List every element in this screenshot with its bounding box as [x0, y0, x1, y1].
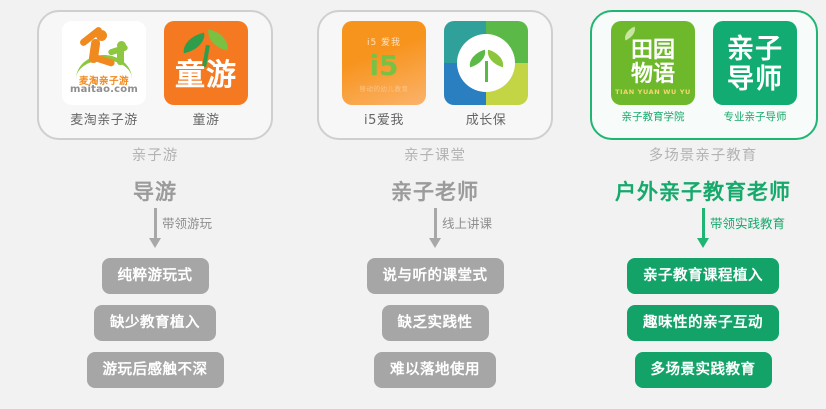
- card-caption: 多场景亲子教育: [580, 144, 826, 165]
- pill-item[interactable]: 缺乏实践性: [382, 305, 489, 341]
- tongyou-logo: 童游: [164, 21, 248, 105]
- brand-line-1: 田园: [611, 39, 695, 63]
- arrow-head-icon: [697, 238, 709, 248]
- flow-arrow: 带领实践教育: [580, 208, 826, 252]
- pill-list: 说与听的课堂式 缺乏实践性 难以落地使用: [300, 258, 570, 388]
- pill-item[interactable]: 难以落地使用: [374, 352, 496, 388]
- i5-logo: i5 爱我 i5 移动的幼儿教育: [342, 21, 426, 105]
- column-parent-child-travel: 麦淘亲子游 maitao.com 麦淘亲子游 童游 童游 亲子游 导: [20, 0, 290, 409]
- maitao-logo: 麦淘亲子游 maitao.com: [62, 21, 146, 105]
- logo-slot-tongyou[interactable]: 童游 童游: [164, 21, 248, 128]
- brand-pinyin: TIAN YUAN WU YU: [611, 88, 695, 96]
- i5-brand-bottom: 移动的幼儿教育: [342, 83, 426, 93]
- pill-item[interactable]: 说与听的课堂式: [367, 258, 504, 294]
- tianyuanwuyu-logo: 田园 物语 TIAN YUAN WU YU: [611, 21, 695, 105]
- leaf-left-icon: [181, 33, 208, 54]
- chengzhangbao-logo: [444, 21, 528, 105]
- flow-arrow: 带领游玩: [20, 208, 290, 252]
- logo-row: 麦淘亲子游 maitao.com 麦淘亲子游 童游 童游: [39, 21, 271, 128]
- pill-item[interactable]: 亲子教育课程植入: [627, 258, 779, 294]
- flow-arrow: 线上讲课: [300, 208, 570, 252]
- logo-card: i5 爱我 i5 移动的幼儿教育 i5爱我: [317, 10, 553, 140]
- logo-card-highlighted: 田园 物语 TIAN YUAN WU YU 亲子教育学院 亲子 导师 专业亲子导…: [590, 10, 818, 140]
- column-multi-scene-education: 田园 物语 TIAN YUAN WU YU 亲子教育学院 亲子 导师 专业亲子导…: [580, 0, 826, 409]
- arrow-line: [702, 208, 705, 240]
- brand-line-2: 物语: [611, 63, 695, 87]
- maitao-brand-en: maitao.com: [62, 84, 146, 95]
- logo-card: 麦淘亲子游 maitao.com 麦淘亲子游 童游 童游: [37, 10, 273, 140]
- logo-caption: 成长保: [444, 109, 528, 128]
- pill-list: 亲子教育课程植入 趣味性的亲子互动 多场景实践教育: [580, 258, 826, 388]
- arrow-label: 带领实践教育: [710, 213, 785, 232]
- logo-row: i5 爱我 i5 移动的幼儿教育 i5爱我: [319, 21, 551, 128]
- sprout-stem-shape: [485, 61, 488, 82]
- logo-caption: 麦淘亲子游: [62, 109, 146, 128]
- i5-brand-top: i5 爱我: [342, 35, 426, 48]
- role-title: 亲子老师: [300, 176, 570, 206]
- pill-item[interactable]: 纯粹游玩式: [102, 258, 209, 294]
- card-caption: 亲子游: [20, 144, 290, 165]
- arrow-head-icon: [429, 238, 441, 248]
- role-title: 户外亲子教育老师: [580, 176, 826, 206]
- arrow-label: 线上讲课: [442, 213, 492, 232]
- child-body-shape: [117, 49, 124, 65]
- arrow-line: [154, 208, 157, 240]
- logo-caption: 亲子教育学院: [611, 109, 695, 124]
- arrow-head-icon: [149, 238, 161, 248]
- pill-item[interactable]: 游玩后感触不深: [87, 352, 224, 388]
- pill-item[interactable]: 多场景实践教育: [635, 352, 772, 388]
- logo-slot-qinzidaoshi[interactable]: 亲子 导师 专业亲子导师: [713, 21, 797, 124]
- arrow-line: [434, 208, 437, 240]
- logo-caption: i5爱我: [342, 109, 426, 128]
- tongyou-brand-cn: 童游: [164, 59, 248, 93]
- column-parent-child-classroom: i5 爱我 i5 移动的幼儿教育 i5爱我: [300, 0, 570, 409]
- logo-row: 田园 物语 TIAN YUAN WU YU 亲子教育学院 亲子 导师 专业亲子导…: [592, 21, 816, 124]
- brand-line-2: 导师: [713, 65, 797, 95]
- pill-item[interactable]: 趣味性的亲子互动: [627, 305, 779, 341]
- brand-line-1: 亲子: [713, 35, 797, 65]
- arrow-label: 带领游玩: [162, 213, 212, 232]
- pill-item[interactable]: 缺少教育植入: [94, 305, 216, 341]
- logo-caption: 专业亲子导师: [713, 109, 797, 124]
- i5-brand-big: i5: [342, 51, 426, 81]
- logo-caption: 童游: [164, 109, 248, 128]
- pill-list: 纯粹游玩式 缺少教育植入 游玩后感触不深: [20, 258, 290, 388]
- comparison-diagram: 麦淘亲子游 maitao.com 麦淘亲子游 童游 童游 亲子游 导: [0, 0, 826, 409]
- role-title: 导游: [20, 176, 290, 206]
- logo-slot-i5aiwo[interactable]: i5 爱我 i5 移动的幼儿教育 i5爱我: [342, 21, 426, 128]
- logo-slot-maitao[interactable]: 麦淘亲子游 maitao.com 麦淘亲子游: [62, 21, 146, 128]
- logo-slot-tianyuanwuyu[interactable]: 田园 物语 TIAN YUAN WU YU 亲子教育学院: [611, 21, 695, 124]
- card-caption: 亲子课堂: [300, 144, 570, 165]
- qinzidaoshi-logo: 亲子 导师: [713, 21, 797, 105]
- logo-slot-chengzhangbao[interactable]: 成长保: [444, 21, 528, 128]
